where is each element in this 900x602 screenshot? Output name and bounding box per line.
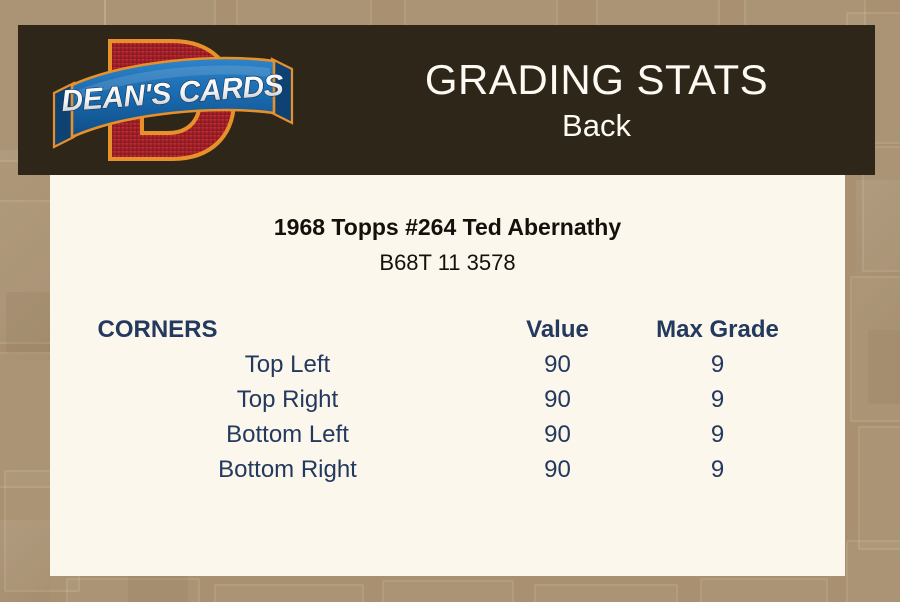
card-title: 1968 Topps #264 Ted Abernathy (50, 213, 845, 242)
content-panel: 1968 Topps #264 Ted Abernathy B68T 11 35… (50, 175, 845, 576)
page-title: GRADING STATS (425, 56, 768, 103)
table-row: Bottom Left 90 9 (98, 417, 798, 452)
row-label-bottom-right: Bottom Right (98, 452, 478, 487)
deans-cards-logo: DEAN'S CARDS (48, 31, 298, 169)
header-title-group: GRADING STATS Back (318, 25, 875, 175)
row-value-top-right: 90 (478, 382, 638, 417)
column-header-corners: CORNERS (98, 312, 478, 347)
table-row: Top Left 90 9 (98, 347, 798, 382)
row-label-bottom-left: Bottom Left (98, 417, 478, 452)
stats-table-header-row: CORNERS Value Max Grade (98, 312, 798, 347)
card-code: B68T 11 3578 (50, 249, 845, 278)
grading-stats-table: CORNERS Value Max Grade Top Left 90 9 To… (98, 312, 798, 487)
row-max-grade-top-left: 9 (638, 347, 798, 382)
stats-table-body: Top Left 90 9 Top Right 90 9 Bottom Left… (98, 347, 798, 487)
row-max-grade-bottom-left: 9 (638, 417, 798, 452)
grading-stats-page: DEAN'S CARDS GRADING STATS Back 1968 Top… (0, 0, 900, 602)
card-info: 1968 Topps #264 Ted Abernathy B68T 11 35… (50, 175, 845, 277)
row-max-grade-top-right: 9 (638, 382, 798, 417)
row-value-bottom-left: 90 (478, 417, 638, 452)
page-subtitle: Back (562, 107, 631, 144)
stats-table-head: CORNERS Value Max Grade (98, 312, 798, 347)
row-value-top-left: 90 (478, 347, 638, 382)
table-row: Top Right 90 9 (98, 382, 798, 417)
header-bar: DEAN'S CARDS GRADING STATS Back (18, 25, 875, 175)
table-row: Bottom Right 90 9 (98, 452, 798, 487)
column-header-value: Value (478, 312, 638, 347)
row-label-top-left: Top Left (98, 347, 478, 382)
row-max-grade-bottom-right: 9 (638, 452, 798, 487)
row-label-top-right: Top Right (98, 382, 478, 417)
column-header-max-grade: Max Grade (638, 312, 798, 347)
row-value-bottom-right: 90 (478, 452, 638, 487)
